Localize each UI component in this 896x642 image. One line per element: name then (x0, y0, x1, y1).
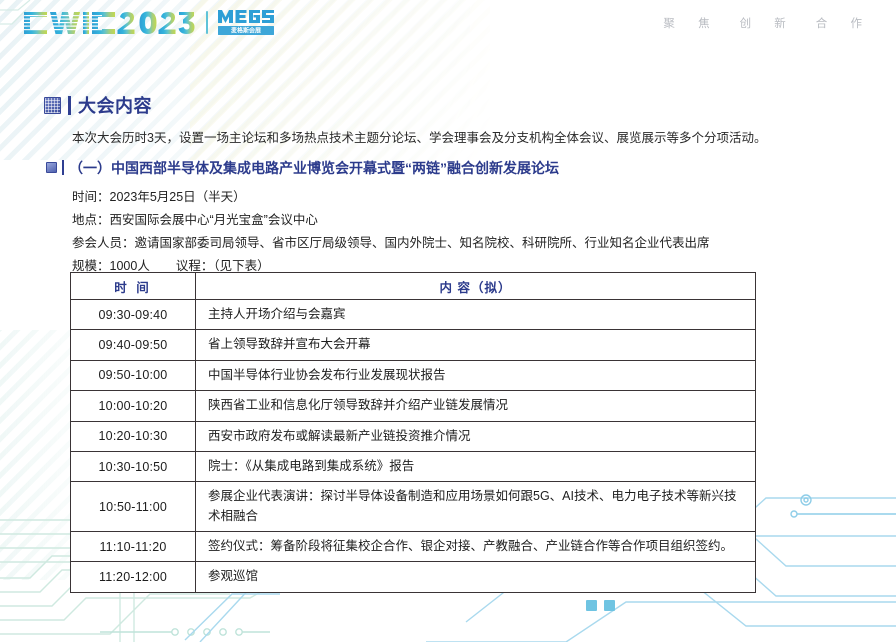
table-row: 10:00-10:20陕西省工业和信息化厅领导致辞并介绍产业链发展情况 (71, 391, 756, 421)
cell-time: 10:00-10:20 (71, 391, 196, 421)
cell-time: 10:50-11:00 (71, 482, 196, 532)
cell-content: 陕西省工业和信息化厅领导致辞并介绍产业链发展情况 (196, 391, 756, 421)
page-title: 大会内容 (78, 97, 152, 115)
detail-time-label: 时间： (72, 190, 110, 204)
subheading-accent-bar (62, 160, 64, 175)
cwic-2023-logo-icon (22, 8, 197, 38)
megs-logo-icon: 麦格斯会展 (217, 9, 275, 37)
cell-time: 09:40-09:50 (71, 330, 196, 360)
column-header-content: 内 容（拟） (196, 273, 756, 300)
detail-attendees-label: 参会人员： (72, 236, 135, 250)
table-row: 10:20-10:30西安市政府发布或解读最新产业链投资推介情况 (71, 421, 756, 451)
cell-time: 09:50-10:00 (71, 360, 196, 390)
detail-attendees-value: 邀请国家部委司局领导、省市区厅局级领导、国内外院士、知名院校、科研院所、行业知名… (135, 236, 710, 250)
slide-header: 麦格斯会展 聚 焦 创 新 合 作 (0, 0, 896, 45)
subsection-title: （一）中国西部半导体及集成电路产业博览会开幕式暨“两链”融合创新发展论坛 (69, 161, 559, 175)
intro-paragraph: 本次大会历时3天，设置一场主论坛和多场热点技术主题分论坛、学会理事会及分支机构全… (72, 128, 862, 148)
cell-time: 11:10-11:20 (71, 532, 196, 562)
logo-divider-icon (206, 11, 208, 34)
detail-time-value: 2023年5月25日（半天） (110, 190, 246, 204)
cell-content: 参观巡馆 (196, 562, 756, 592)
subsection-heading: （一）中国西部半导体及集成电路产业博览会开幕式暨“两链”融合创新发展论坛 (46, 160, 559, 175)
table-row: 10:50-11:00参展企业代表演讲：探讨半导体设备制造和应用场景如何跟5G、… (71, 482, 756, 532)
slide-canvas: 麦格斯会展 聚 焦 创 新 合 作 大会内容 本次大会历时3天，设置一场主论坛和… (0, 0, 896, 642)
table-row: 09:40-09:50省上领导致辞并宣布大会开幕 (71, 330, 756, 360)
cell-content: 主持人开场介绍与会嘉宾 (196, 300, 756, 330)
heading-accent-bar (68, 96, 71, 115)
agenda-table-body: 09:30-09:40主持人开场介绍与会嘉宾09:40-09:50省上领导致辞并… (71, 300, 756, 593)
cell-content: 中国半导体行业协会发布行业发展现状报告 (196, 360, 756, 390)
cell-time: 10:30-10:50 (71, 451, 196, 481)
table-row: 10:30-10:50院士：《从集成电路到集成系统》报告 (71, 451, 756, 481)
detail-time: 时间：2023年5月25日（半天） (72, 186, 862, 209)
cell-time: 11:20-12:00 (71, 562, 196, 592)
event-details: 时间：2023年5月25日（半天） 地点：西安国际会展中心“月光宝盒”会议中心 … (72, 186, 862, 279)
cell-content: 签约仪式：筹备阶段将征集校企合作、银企对接、产教融合、产业链合作等合作项目组织签… (196, 532, 756, 562)
chip-icon (44, 97, 61, 114)
cell-content: 院士：《从集成电路到集成系统》报告 (196, 451, 756, 481)
cell-content: 西安市政府发布或解读最新产业链投资推介情况 (196, 421, 756, 451)
cell-content: 省上领导致辞并宣布大会开幕 (196, 330, 756, 360)
detail-attendees: 参会人员：邀请国家部委司局领导、省市区厅局级领导、国内外院士、知名院校、科研院所… (72, 232, 862, 255)
header-slogan: 聚 焦 创 新 合 作 (663, 15, 872, 31)
cell-content: 参展企业代表演讲：探讨半导体设备制造和应用场景如何跟5G、AI技术、电力电子技术… (196, 482, 756, 532)
chip-small-icon (46, 162, 57, 173)
event-logo: 麦格斯会展 (22, 8, 275, 38)
agenda-table-head: 时 间 内 容（拟） (71, 273, 756, 300)
agenda-table: 时 间 内 容（拟） 09:30-09:40主持人开场介绍与会嘉宾09:40-0… (70, 272, 756, 593)
table-row: 11:20-12:00参观巡馆 (71, 562, 756, 592)
column-header-time: 时 间 (71, 273, 196, 300)
cell-time: 10:20-10:30 (71, 421, 196, 451)
detail-place: 地点：西安国际会展中心“月光宝盒”会议中心 (72, 209, 862, 232)
table-row: 09:50-10:00中国半导体行业协会发布行业发展现状报告 (71, 360, 756, 390)
detail-place-value: 西安国际会展中心“月光宝盒”会议中心 (110, 213, 318, 227)
table-row: 11:10-11:20签约仪式：筹备阶段将征集校企合作、银企对接、产教融合、产业… (71, 532, 756, 562)
section-heading: 大会内容 (44, 96, 152, 115)
cell-time: 09:30-09:40 (71, 300, 196, 330)
table-header-row: 时 间 内 容（拟） (71, 273, 756, 300)
slogan-word-2: 创 新 (740, 15, 796, 31)
detail-place-label: 地点： (72, 213, 110, 227)
svg-text:麦格斯会展: 麦格斯会展 (231, 26, 261, 34)
table-row: 09:30-09:40主持人开场介绍与会嘉宾 (71, 300, 756, 330)
slogan-word-1: 聚 焦 (663, 15, 719, 31)
slogan-word-3: 合 作 (816, 15, 872, 31)
